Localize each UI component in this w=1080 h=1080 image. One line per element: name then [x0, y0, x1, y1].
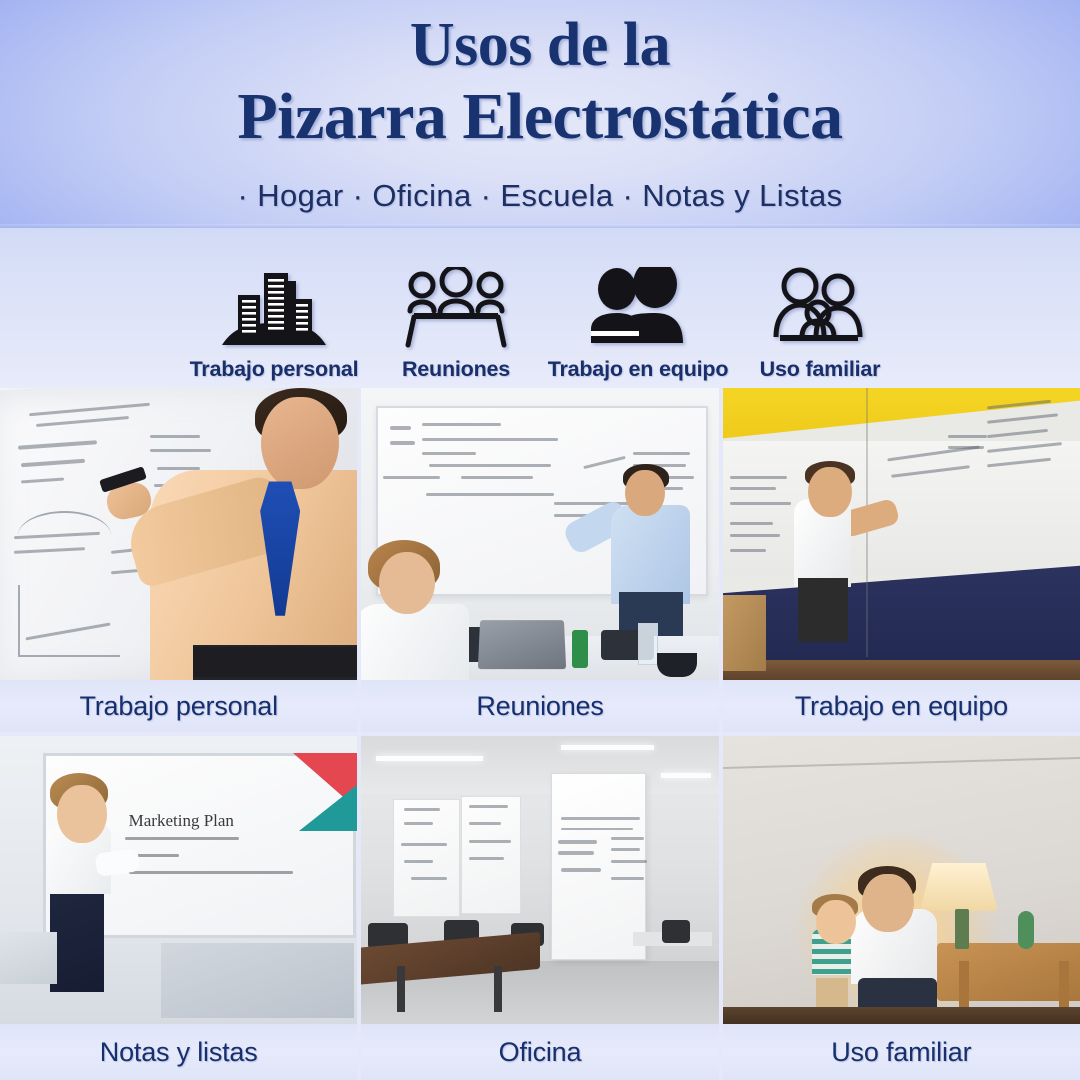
page-title-line-2: Pizarra Electrostática	[0, 84, 1080, 150]
poster-root: Usos de la Pizarra Electrostática · Hoga…	[0, 0, 1080, 1080]
gallery-grid: Trabajo personal	[0, 388, 1080, 1080]
header-subtitle: · Hogar · Oficina · Escuela · Notas y Li…	[0, 178, 1080, 214]
whiteboard-heading-text: Marketing Plan	[129, 811, 234, 831]
photo-man-whiteboard	[0, 388, 357, 680]
category-label: Reuniones	[402, 357, 510, 382]
category-item-reuniones[interactable]: Reuniones	[372, 265, 540, 382]
gallery-caption: Uso familiar	[723, 1024, 1080, 1080]
category-label: Trabajo personal	[190, 357, 359, 382]
category-item-trabajo-personal[interactable]: Trabajo personal	[176, 265, 372, 382]
category-label: Uso familiar	[760, 357, 881, 382]
photo-woman-marketing-plan: Marketing Plan	[0, 736, 357, 1024]
meeting-table-people-icon	[400, 265, 512, 351]
photo-meeting-room	[361, 388, 718, 680]
page-title-line-1: Usos de la	[0, 14, 1080, 76]
photo-office-whiteboard-panels	[361, 736, 718, 1024]
gallery-cell-trabajo-personal[interactable]: Trabajo personal	[0, 388, 357, 732]
photo-family-wall	[723, 736, 1080, 1024]
gallery-cell-trabajo-en-equipo[interactable]: Trabajo en equipo	[723, 388, 1080, 732]
gallery-caption: Notas y listas	[0, 1024, 357, 1080]
gallery-caption: Trabajo personal	[0, 680, 357, 732]
gallery-cell-reuniones[interactable]: Reuniones	[361, 388, 718, 732]
category-label: Trabajo en equipo	[548, 357, 729, 382]
gallery-caption: Reuniones	[361, 680, 718, 732]
gallery-cell-notas-y-listas[interactable]: Marketing Plan Notas y listas	[0, 736, 357, 1080]
category-item-uso-familiar[interactable]: Uso familiar	[736, 265, 904, 382]
header-title-block: Usos de la Pizarra Electrostática	[0, 14, 1080, 150]
gallery-caption: Oficina	[361, 1024, 718, 1080]
poster-header: Usos de la Pizarra Electrostática · Hoga…	[0, 0, 1080, 228]
office-buildings-icon	[214, 265, 334, 351]
gallery-cell-oficina[interactable]: Oficina	[361, 736, 718, 1080]
gallery-cell-uso-familiar[interactable]: Uso familiar	[723, 736, 1080, 1080]
gallery-caption: Trabajo en equipo	[723, 680, 1080, 732]
photo-wall-writing	[723, 388, 1080, 680]
two-people-filled-icon	[583, 265, 693, 351]
category-icon-band: Trabajo personal	[0, 228, 1080, 388]
family-group-icon	[768, 265, 872, 351]
category-item-trabajo-en-equipo[interactable]: Trabajo en equipo	[540, 265, 736, 382]
